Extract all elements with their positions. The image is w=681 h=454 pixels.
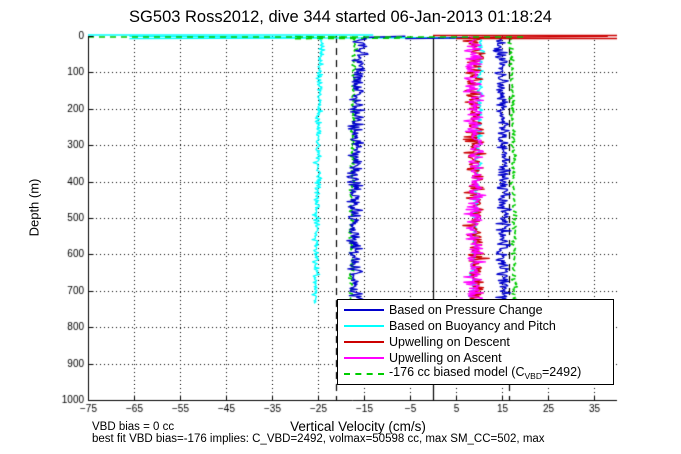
legend-swatch-icon: [344, 320, 384, 332]
page-title: SG503 Ross2012, dive 344 started 06-Jan-…: [0, 8, 681, 27]
legend: Based on Pressure ChangeBased on Buoyanc…: [337, 299, 614, 385]
legend-item: Based on Buoyancy and Pitch: [338, 318, 613, 334]
y-axis-title: Depth (m): [27, 158, 42, 258]
legend-item: Upwelling on Descent: [338, 334, 613, 350]
legend-swatch-icon: [344, 304, 384, 316]
legend-item: Based on Pressure Change: [338, 302, 613, 318]
legend-item-label: Based on Buoyancy and Pitch: [389, 319, 556, 333]
vertical-velocity-plot-canvas: [0, 0, 681, 454]
legend-swatch-icon: [344, 368, 384, 380]
legend-subscript: VBD: [524, 371, 541, 381]
x-axis-title: Vertical Velocity (cm/s): [188, 419, 528, 434]
legend-item-label: -176 cc biased model (CVBD=2492): [389, 365, 581, 383]
vbd-bias-annotation: VBD bias = 0 cc: [92, 421, 174, 433]
legend-rows: Based on Pressure ChangeBased on Buoyanc…: [338, 302, 613, 382]
legend-item-label: Based on Pressure Change: [389, 303, 543, 317]
legend-item-label: Upwelling on Descent: [389, 335, 510, 349]
legend-item: -176 cc biased model (CVBD=2492): [338, 366, 613, 382]
legend-swatch-icon: [344, 336, 384, 348]
best-fit-annotation: best fit VBD bias=-176 implies: C_VBD=24…: [92, 433, 545, 445]
legend-swatch-icon: [344, 352, 384, 364]
figure-root: SG503 Ross2012, dive 344 started 06-Jan-…: [0, 0, 681, 454]
legend-item-label: Upwelling on Ascent: [389, 351, 502, 365]
legend-item: Upwelling on Ascent: [338, 350, 613, 366]
